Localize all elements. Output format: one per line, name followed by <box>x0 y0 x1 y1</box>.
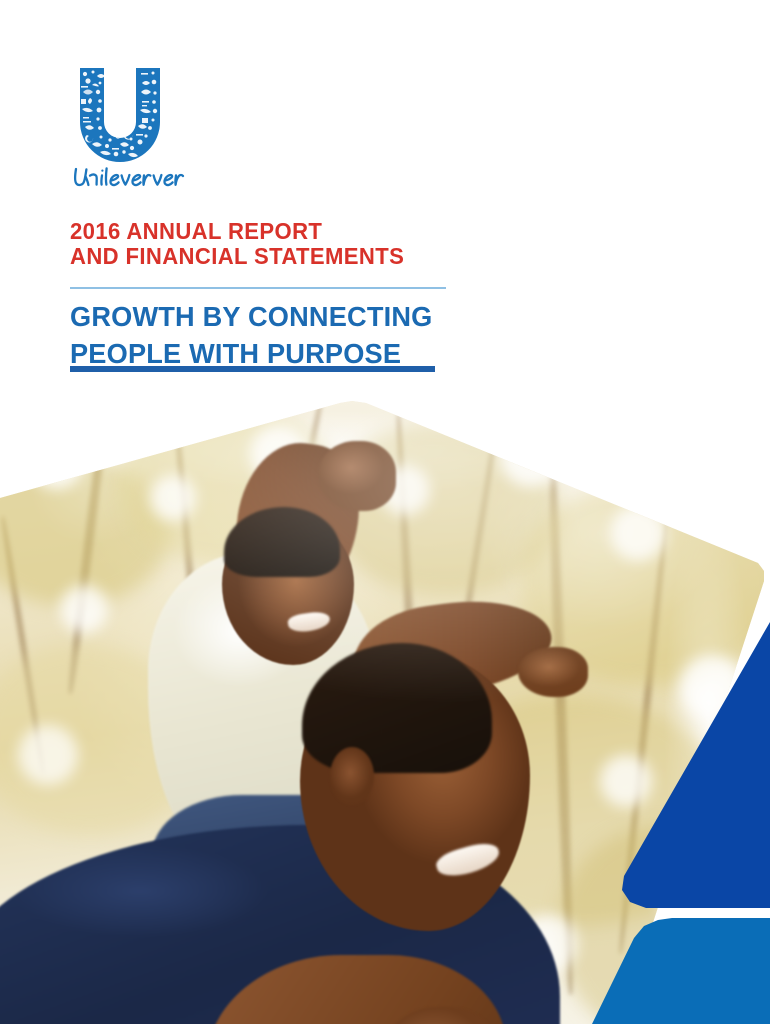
page-title-secondary: GROWTH BY CONNECTING PEOPLE WITH PURPOSE <box>70 298 497 372</box>
report-cover-page: 2016 ANNUAL REPORT AND FINANCIAL STATEME… <box>0 0 770 1024</box>
unilever-u-icon-mosaic-icon <box>74 66 166 162</box>
bokeh-highlight <box>30 435 84 489</box>
bokeh-highlight <box>18 725 78 785</box>
divider-thin-top <box>70 287 446 289</box>
bokeh-highlight <box>600 755 652 807</box>
divider-thick-bottom <box>70 366 435 372</box>
child-hand <box>518 647 588 697</box>
bokeh-highlight <box>500 425 562 487</box>
child-hand <box>318 441 396 511</box>
bokeh-highlight <box>150 475 196 521</box>
unilever-wordmark-icon <box>70 162 188 194</box>
unilever-logo <box>70 66 190 194</box>
bokeh-highlight <box>610 505 666 561</box>
page-title-primary: 2016 ANNUAL REPORT AND FINANCIAL STATEME… <box>70 219 465 268</box>
bokeh-highlight <box>60 585 108 633</box>
man-ear <box>330 747 374 805</box>
